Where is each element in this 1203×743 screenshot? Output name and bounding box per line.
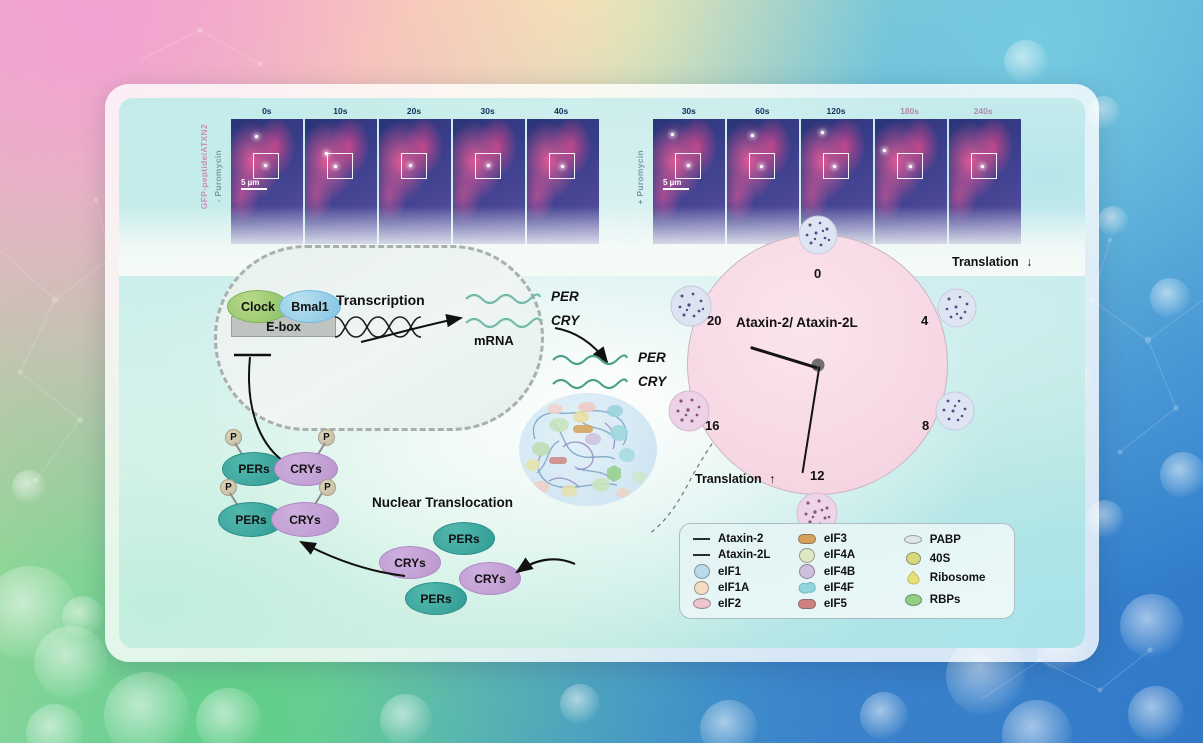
legend-label: eIF4F (824, 582, 854, 594)
left-strip-timeline-labels: 0s 10s 20s 30s 40s (231, 106, 597, 116)
roi-box (823, 153, 849, 179)
right-scalebar-label: 5 µm (663, 178, 681, 187)
translation-machinery-blob (519, 393, 657, 506)
clock-hour-label-4: 4 (921, 313, 928, 328)
right-strip-row-label-bottom: + Puromycin (635, 150, 645, 205)
roi-box (971, 153, 997, 179)
legend-item: eIF4B (798, 563, 904, 579)
right-time-label: 120s (800, 106, 872, 116)
transcription-arrow-icon (359, 306, 477, 346)
bmal1-protein-node: Bmal1 (279, 290, 341, 323)
legend-label: eIF2 (718, 598, 741, 610)
eif1-marker-icon (692, 564, 711, 579)
right-time-label: 180s (874, 106, 946, 116)
legend-label: eIF1 (718, 566, 741, 578)
arrow-up-icon: ↑ (769, 472, 775, 486)
clock-hour-hand (750, 346, 818, 369)
legend-label: Ataxin-2L (718, 549, 770, 561)
left-strip-row-label-bottom: - Puromycin (213, 150, 223, 202)
legend-item: 40S (904, 550, 1004, 567)
free-pers-protein: PERs (433, 522, 495, 555)
legend-item: eIF4F (798, 580, 904, 596)
legend-label: eIF5 (824, 598, 847, 610)
ataxin-2-marker-icon (692, 538, 711, 540)
legend-item: eIF4A (798, 547, 904, 563)
legend-label: PABP (930, 534, 961, 546)
stress-granule-20 (670, 285, 712, 327)
crys-protein-phospho: CRYs (271, 502, 339, 537)
roi-box (327, 153, 353, 179)
legend-box: Ataxin-2 Ataxin-2L eIF1 eIF1A eIF2 (679, 523, 1015, 619)
eif4f-marker-icon (798, 581, 817, 594)
right-strip-timeline-labels: 30s 60s 120s 180s 240s (653, 106, 1019, 116)
legend-item: Ataxin-2L (692, 547, 798, 563)
translation-down-annotation: Translation ↓ (952, 255, 1032, 269)
right-time-label: 30s (653, 106, 725, 116)
stress-granule-0 (798, 215, 838, 255)
legend-label: 40S (930, 553, 950, 565)
clock-center-label: Ataxin-2/ Ataxin-2L (736, 315, 858, 330)
free-pers-protein: PERs (405, 582, 467, 615)
left-time-label: 30s (452, 106, 524, 116)
translation-up-label: Translation (695, 472, 762, 486)
clock-minute-hand (801, 366, 820, 473)
legend-label: eIF3 (824, 533, 847, 545)
eif4b-marker-icon (798, 564, 817, 579)
legend-item: eIF1A (692, 580, 798, 596)
eif5-marker-icon (798, 599, 817, 609)
left-strip-row-label-top: GFP-peptide/ATXN2 (199, 124, 209, 209)
legend-item: Ribosome (904, 569, 1004, 586)
left-time-label: 40s (525, 106, 597, 116)
legend-item: eIF1 (692, 563, 798, 579)
legend-label: Ribosome (930, 572, 986, 584)
eif1a-marker-icon (692, 581, 711, 595)
figure-card: GFP-peptide/ATXN2 - Puromycin 0s 10s 20s… (105, 84, 1099, 662)
left-scalebar-label: 5 µm (241, 178, 259, 187)
legend-column-2: eIF3 eIF4A eIF4B eIF4F (798, 531, 904, 612)
ribosome-marker-icon (904, 570, 923, 586)
pabp-marker-icon (904, 535, 923, 544)
left-time-label: 10s (305, 106, 377, 116)
left-strip-scalebar: 5 µm (241, 178, 267, 190)
legend-label: eIF1A (718, 582, 749, 594)
legend-label: Ataxin-2 (718, 533, 763, 545)
right-time-label: 240s (947, 106, 1019, 116)
legend-item: RBPs (904, 591, 1004, 608)
complex-assembly-arrow-icon (289, 534, 407, 582)
legend-label: eIF4B (824, 566, 855, 578)
arrow-down-icon: ↓ (1026, 255, 1032, 269)
nuclear-translocation-label: Nuclear Translocation (372, 495, 513, 510)
right-time-label: 60s (727, 106, 799, 116)
cytoplasmic-mrna-squiggles-icon (552, 352, 630, 394)
40s-marker-icon (904, 552, 923, 565)
rbps-marker-icon (904, 594, 923, 606)
legend-item: eIF5 (798, 596, 904, 612)
legend-label: eIF4A (824, 549, 855, 561)
protein-release-arrow-icon (509, 550, 579, 590)
legend-item: eIF2 (692, 596, 798, 612)
legend-column-3: PABP 40S Ribosome RBPs (904, 531, 1004, 612)
nuclear-mrna-squiggles-icon (465, 291, 543, 333)
figure-panel: GFP-peptide/ATXN2 - Puromycin 0s 10s 20s… (119, 98, 1085, 648)
eif4a-marker-icon (798, 548, 817, 563)
clock-hour-label-8: 8 (922, 418, 929, 433)
clock-hour-label-0: 0 (814, 266, 821, 281)
cytoplasmic-gene-per: PER (638, 350, 666, 365)
legend-item: eIF3 (798, 531, 904, 547)
clock-hour-label-12: 12 (810, 468, 824, 483)
eif3-marker-icon (798, 534, 817, 544)
eif2-marker-icon (692, 598, 711, 609)
ataxin-2l-marker-icon (692, 554, 711, 556)
legend-item: PABP (904, 531, 1004, 548)
right-strip-scalebar: 5 µm (663, 178, 689, 190)
legend-column-1: Ataxin-2 Ataxin-2L eIF1 eIF1A eIF2 (692, 531, 798, 612)
translation-up-annotation: Translation ↑ (695, 472, 775, 486)
legend-label: RBPs (930, 594, 961, 606)
translation-down-label: Translation (952, 255, 1019, 269)
translation-machinery-detail-icon (519, 393, 657, 506)
left-time-label: 0s (231, 106, 303, 116)
mrna-label: mRNA (474, 333, 514, 348)
stress-granule-4 (937, 288, 977, 328)
legend-item: Ataxin-2 (692, 531, 798, 547)
roi-box (401, 153, 427, 179)
nuclear-mrna-gene-per: PER (551, 289, 579, 304)
stress-granule-8 (935, 391, 975, 431)
stress-granule-16 (668, 390, 710, 432)
left-time-label: 20s (378, 106, 450, 116)
